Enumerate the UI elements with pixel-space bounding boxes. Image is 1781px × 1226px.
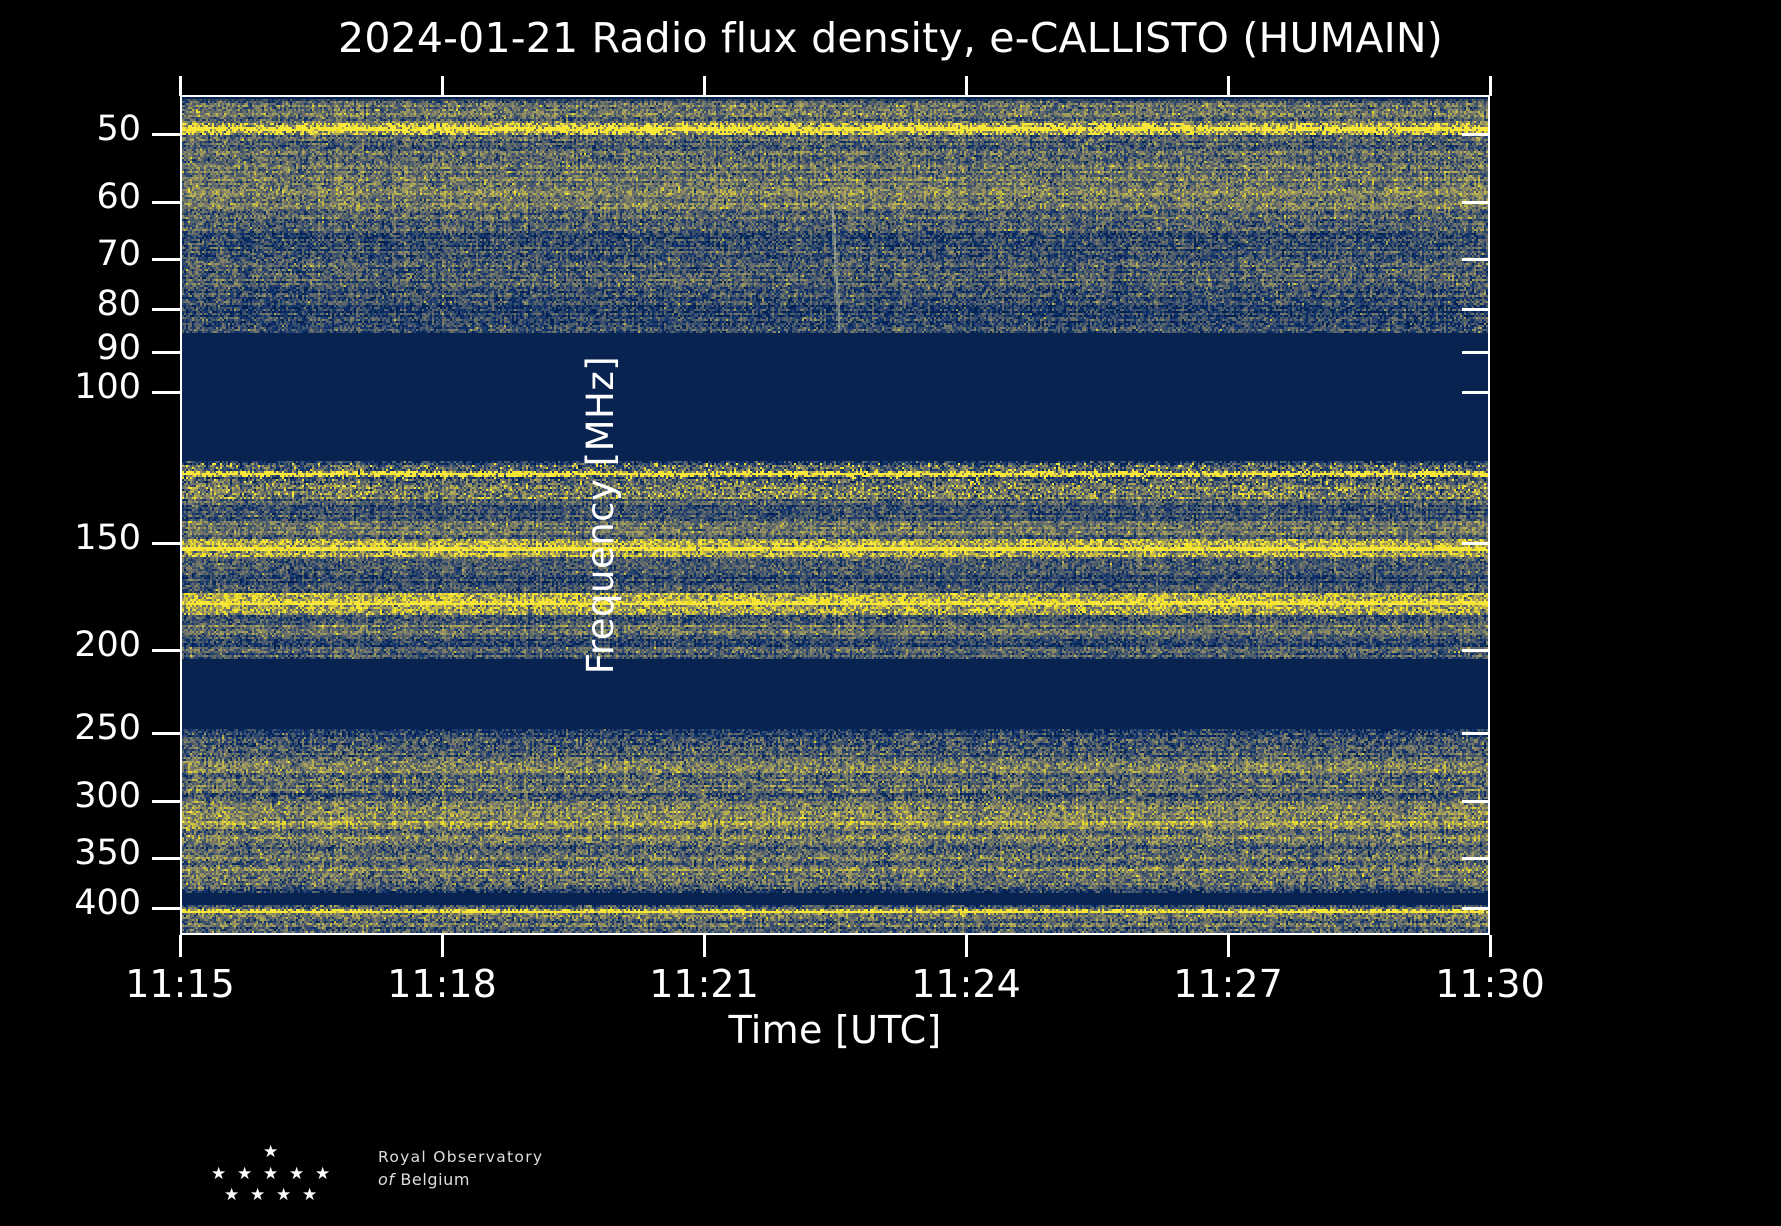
y-tick-label-200: 200	[0, 628, 141, 663]
x-tick-1115	[179, 935, 182, 957]
y-tick-label-100: 100	[0, 370, 141, 405]
y-tick-150	[152, 542, 180, 545]
y-tick-label-50: 50	[0, 112, 141, 147]
y-tick-right-60	[1462, 201, 1490, 204]
stars-icon: ★★★★★★★★★★	[178, 1142, 368, 1208]
y-tick-50	[152, 133, 180, 136]
x-tick-label-1118: 11:18	[332, 962, 552, 1006]
y-tick-100	[152, 391, 180, 394]
axis-spine-top	[180, 95, 1490, 97]
page-title: 2024-01-21 Radio flux density, e-CALLIST…	[0, 14, 1781, 62]
x-tick-label-1130: 11:30	[1380, 962, 1600, 1006]
y-tick-200	[152, 649, 180, 652]
y-tick-250	[152, 732, 180, 735]
star-icon: ★	[302, 1187, 317, 1204]
y-tick-right-300	[1462, 800, 1490, 803]
spectrogram-pixels	[180, 95, 1490, 935]
star-icon: ★	[263, 1144, 278, 1161]
y-tick-80	[152, 308, 180, 311]
x-tick-label-1127: 11:27	[1118, 962, 1338, 1006]
y-tick-label-70: 70	[0, 237, 141, 272]
spectrogram-plot-area[interactable]	[180, 95, 1490, 935]
x-tick-1127	[1227, 935, 1230, 957]
y-tick-70	[152, 258, 180, 261]
spectrogram-image	[180, 95, 1490, 935]
y-tick-label-90: 90	[0, 331, 141, 366]
axis-spine-right	[1488, 95, 1490, 935]
y-tick-right-200	[1462, 649, 1490, 652]
star-icon: ★	[211, 1166, 226, 1183]
x-tick-label-1124: 11:24	[856, 962, 1076, 1006]
star-icon: ★	[250, 1187, 265, 1204]
x-tick-1121	[703, 935, 706, 957]
star-icon: ★	[289, 1166, 304, 1183]
star-icon: ★	[263, 1166, 278, 1183]
star-icon: ★	[224, 1187, 239, 1204]
y-tick-400	[152, 907, 180, 910]
y-tick-label-400: 400	[0, 886, 141, 921]
x-axis-title: Time [UTC]	[180, 1008, 1490, 1052]
y-tick-right-350	[1462, 857, 1490, 860]
x-tick-1118	[441, 935, 444, 957]
y-tick-60	[152, 201, 180, 204]
figure-canvas: 2024-01-21 Radio flux density, e-CALLIST…	[0, 0, 1781, 1226]
y-tick-right-100	[1462, 391, 1490, 394]
x-tick-1124	[965, 935, 968, 957]
x-tick-top-1121	[703, 76, 706, 96]
star-icon: ★	[237, 1166, 252, 1183]
x-tick-label-1121: 11:21	[594, 962, 814, 1006]
x-tick-top-1124	[965, 76, 968, 96]
star-icon: ★	[315, 1166, 330, 1183]
y-tick-right-80	[1462, 308, 1490, 311]
x-tick-top-1127	[1227, 76, 1230, 96]
y-tick-right-90	[1462, 351, 1490, 354]
y-tick-label-150: 150	[0, 521, 141, 556]
y-tick-right-150	[1462, 542, 1490, 545]
x-tick-top-1118	[441, 76, 444, 96]
axis-spine-left	[180, 95, 182, 935]
axis-spine-bottom	[180, 933, 1490, 935]
y-tick-right-400	[1462, 907, 1490, 910]
y-tick-label-350: 350	[0, 836, 141, 871]
y-tick-label-60: 60	[0, 180, 141, 215]
y-tick-label-80: 80	[0, 287, 141, 322]
royal-observatory-belgium-logo: ★★★★★★★★★★ Royal Observatory of Belgium	[178, 1142, 598, 1214]
y-tick-right-70	[1462, 258, 1490, 261]
star-icon: ★	[276, 1187, 291, 1204]
y-axis-title: Frequency [MHz]	[570, 95, 630, 935]
logo-country: Belgium	[400, 1170, 470, 1189]
y-tick-300	[152, 800, 180, 803]
logo-of-word: of	[378, 1170, 395, 1189]
logo-line-2: of Belgium	[378, 1170, 608, 1189]
x-tick-top-1115	[179, 76, 182, 96]
x-tick-top-1130	[1489, 76, 1492, 96]
logo-text: Royal Observatory of Belgium	[378, 1148, 608, 1189]
x-tick-label-1115: 11:15	[70, 962, 290, 1006]
logo-line-1: Royal Observatory	[378, 1148, 608, 1166]
y-tick-label-250: 250	[0, 711, 141, 746]
y-tick-right-50	[1462, 133, 1490, 136]
y-tick-350	[152, 857, 180, 860]
y-tick-right-250	[1462, 732, 1490, 735]
y-tick-90	[152, 351, 180, 354]
x-tick-1130	[1489, 935, 1492, 957]
y-tick-label-300: 300	[0, 779, 141, 814]
